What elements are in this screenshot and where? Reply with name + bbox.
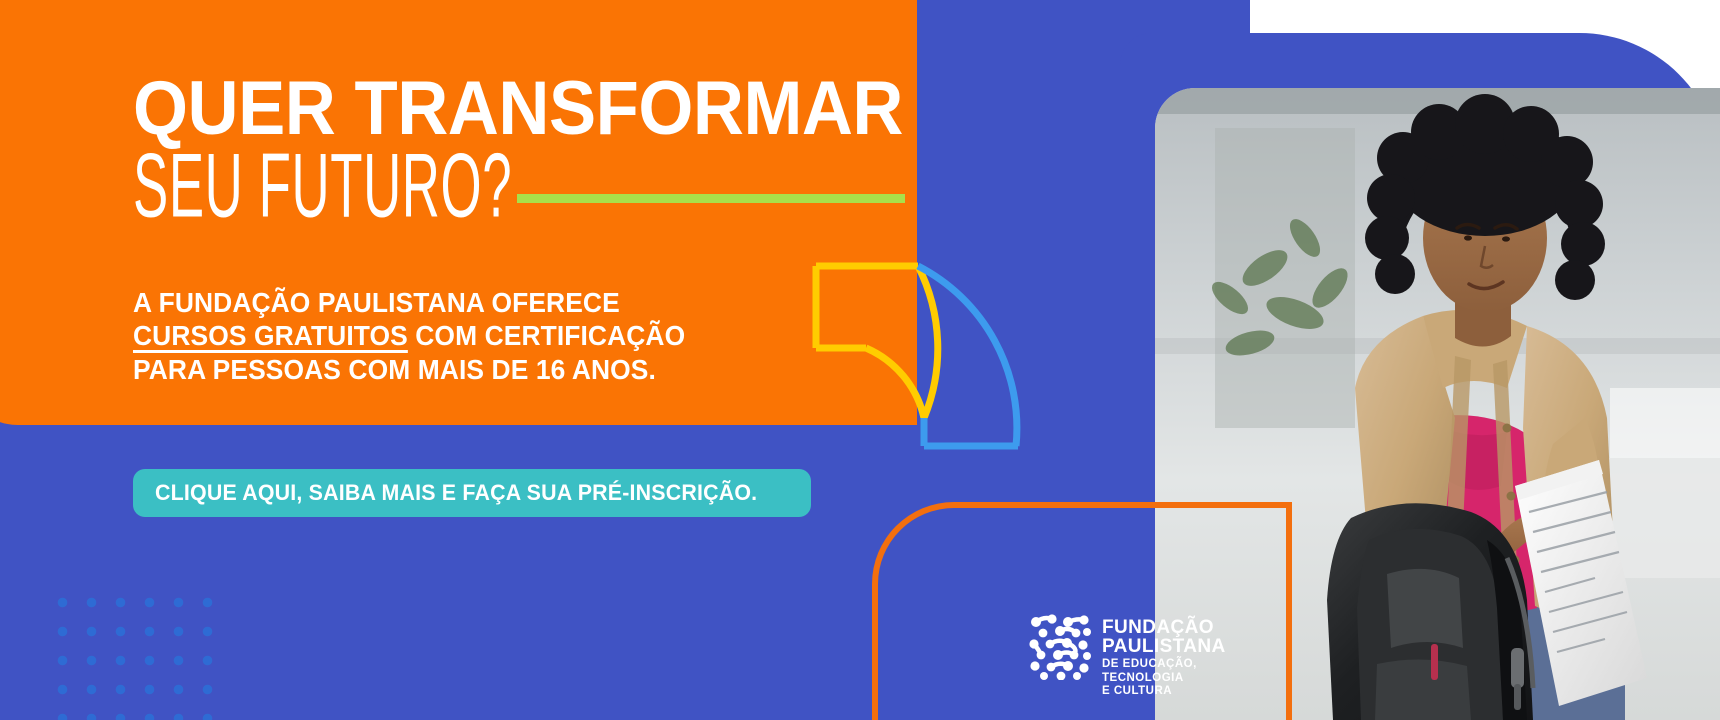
logo-subline-3: E CULTURA [1102, 685, 1226, 699]
subcopy-highlight: CURSOS GRATUITOS [133, 320, 408, 351]
fundacao-paulistana-dots-icon [1027, 614, 1093, 680]
fundacao-paulistana-logo: FUNDAÇÃO PAULISTANA DE EDUCAÇÃO, TECNOLO… [1027, 614, 1226, 699]
subcopy-line-2-rest: COM CERTIFICAÇÃO [408, 320, 685, 351]
quarter-circle-arc-decoration [806, 258, 1026, 458]
logo-subline-1: DE EDUCAÇÃO, [1102, 658, 1226, 672]
cta-button-label: CLIQUE AQUI, SAIBA MAIS E FAÇA SUA PRÉ-I… [155, 480, 757, 506]
headline-block: QUER TRANSFORMAR SEU FUTURO? [133, 74, 953, 225]
subcopy-line-2: CURSOS GRATUITOS COM CERTIFICAÇÃO [133, 319, 685, 352]
logo-subline-2: TECNOLOGIA [1102, 672, 1226, 686]
green-rule [517, 194, 905, 203]
logo-wordmark: FUNDAÇÃO PAULISTANA DE EDUCAÇÃO, TECNOLO… [1102, 614, 1226, 699]
logo-subline: DE EDUCAÇÃO, TECNOLOGIA E CULTURA [1102, 658, 1226, 699]
logo-line-2: PAULISTANA [1102, 637, 1226, 656]
cta-button[interactable]: CLIQUE AQUI, SAIBA MAIS E FAÇA SUA PRÉ-I… [133, 469, 811, 517]
subcopy-line-1: A FUNDAÇÃO PAULISTANA OFERECE [133, 286, 685, 319]
headline-line-2-row: SEU FUTURO? [133, 148, 953, 225]
subcopy-line-3: PARA PESSOAS COM MAIS DE 16 ANOS. [133, 353, 685, 386]
headline-line-2: SEU FUTURO? [133, 146, 469, 226]
orange-bracket-vertical [1286, 502, 1292, 720]
dot-grid-decoration [48, 588, 218, 720]
promo-banner: QUER TRANSFORMAR SEU FUTURO? A FUNDAÇÃO … [0, 0, 1720, 720]
logo-line-1: FUNDAÇÃO [1102, 618, 1226, 637]
subcopy-block: A FUNDAÇÃO PAULISTANA OFERECE CURSOS GRA… [133, 286, 685, 386]
